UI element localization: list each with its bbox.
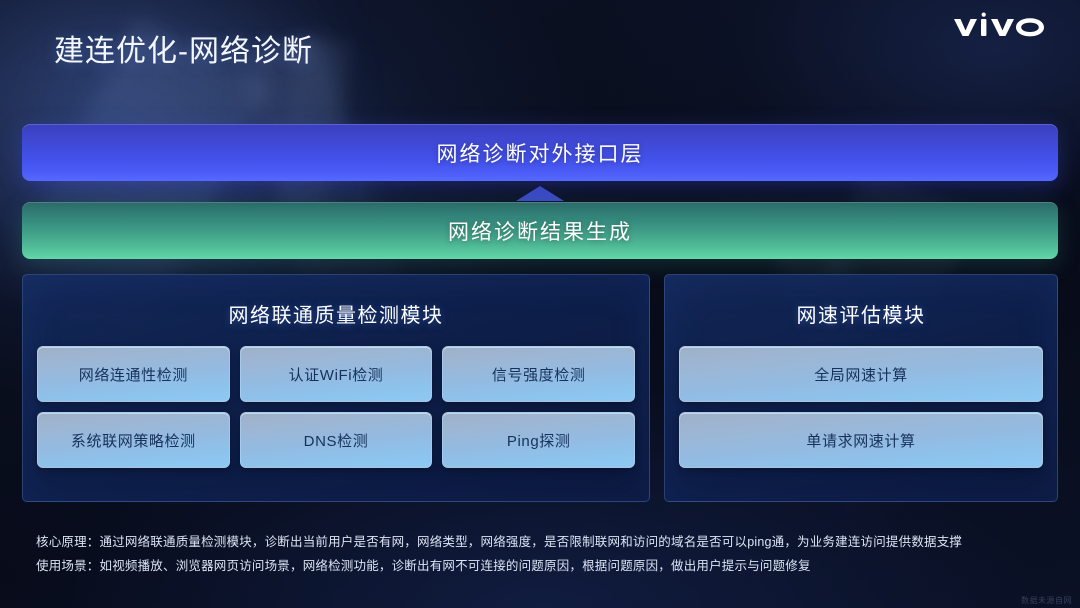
card-row: 单请求网速计算 bbox=[679, 412, 1043, 468]
card-auth-wifi-check[interactable]: 认证WiFi检测 bbox=[240, 346, 433, 402]
panel-connectivity-quality[interactable]: 网络联通质量检测模块 网络连通性检测 认证WiFi检测 信号强度检测 系统联网策… bbox=[22, 274, 650, 502]
triangle-up-icon bbox=[516, 186, 564, 201]
card-single-request-speed-calculation[interactable]: 单请求网速计算 bbox=[679, 412, 1043, 468]
card-grid-connectivity: 网络连通性检测 认证WiFi检测 信号强度检测 系统联网策略检测 DNS检测 P… bbox=[37, 346, 635, 468]
slide-root: 建连优化-网络诊断 网络诊断对外接口层 网络诊断结果生成 网络联通质量检测模块 … bbox=[0, 0, 1080, 608]
page-title: 建连优化-网络诊断 bbox=[54, 32, 313, 72]
vivo-logo bbox=[952, 10, 1048, 40]
banner-interface-layer-label: 网络诊断对外接口层 bbox=[437, 138, 644, 168]
panel-speed-evaluation-title: 网速评估模块 bbox=[679, 299, 1043, 328]
card-row: 网络连通性检测 认证WiFi检测 信号强度检测 bbox=[37, 346, 635, 402]
card-grid-speed: 全局网速计算 单请求网速计算 bbox=[679, 346, 1043, 468]
card-system-network-policy-check[interactable]: 系统联网策略检测 bbox=[37, 412, 230, 468]
footer-core-principle: 核心原理：通过网络联通质量检测模块，诊断出当前用户是否有网，网络类型，网络强度，… bbox=[36, 530, 1046, 554]
card-signal-strength-check[interactable]: 信号强度检测 bbox=[442, 346, 635, 402]
card-row: 全局网速计算 bbox=[679, 346, 1043, 402]
card-ping-probe[interactable]: Ping探测 bbox=[442, 412, 635, 468]
footer-use-case: 使用场景：如视频播放、浏览器网页访问场景，网络检测功能，诊断出有网不可连接的问题… bbox=[36, 554, 1046, 578]
banner-result-generation-label: 网络诊断结果生成 bbox=[448, 216, 632, 246]
panel-speed-evaluation[interactable]: 网速评估模块 全局网速计算 单请求网速计算 bbox=[664, 274, 1058, 502]
card-network-connectivity-check[interactable]: 网络连通性检测 bbox=[37, 346, 230, 402]
banner-result-generation[interactable]: 网络诊断结果生成 bbox=[22, 202, 1058, 259]
panel-connectivity-quality-title: 网络联通质量检测模块 bbox=[37, 299, 635, 328]
card-global-speed-calculation[interactable]: 全局网速计算 bbox=[679, 346, 1043, 402]
module-panels: 网络联通质量检测模块 网络连通性检测 认证WiFi检测 信号强度检测 系统联网策… bbox=[22, 274, 1058, 502]
card-row: 系统联网策略检测 DNS检测 Ping探测 bbox=[37, 412, 635, 468]
watermark: 数据未源自网 bbox=[1021, 595, 1072, 606]
footer-notes: 核心原理：通过网络联通质量检测模块，诊断出当前用户是否有网，网络类型，网络强度，… bbox=[36, 530, 1046, 578]
card-dns-check[interactable]: DNS检测 bbox=[240, 412, 433, 468]
banner-interface-layer[interactable]: 网络诊断对外接口层 bbox=[22, 124, 1058, 181]
